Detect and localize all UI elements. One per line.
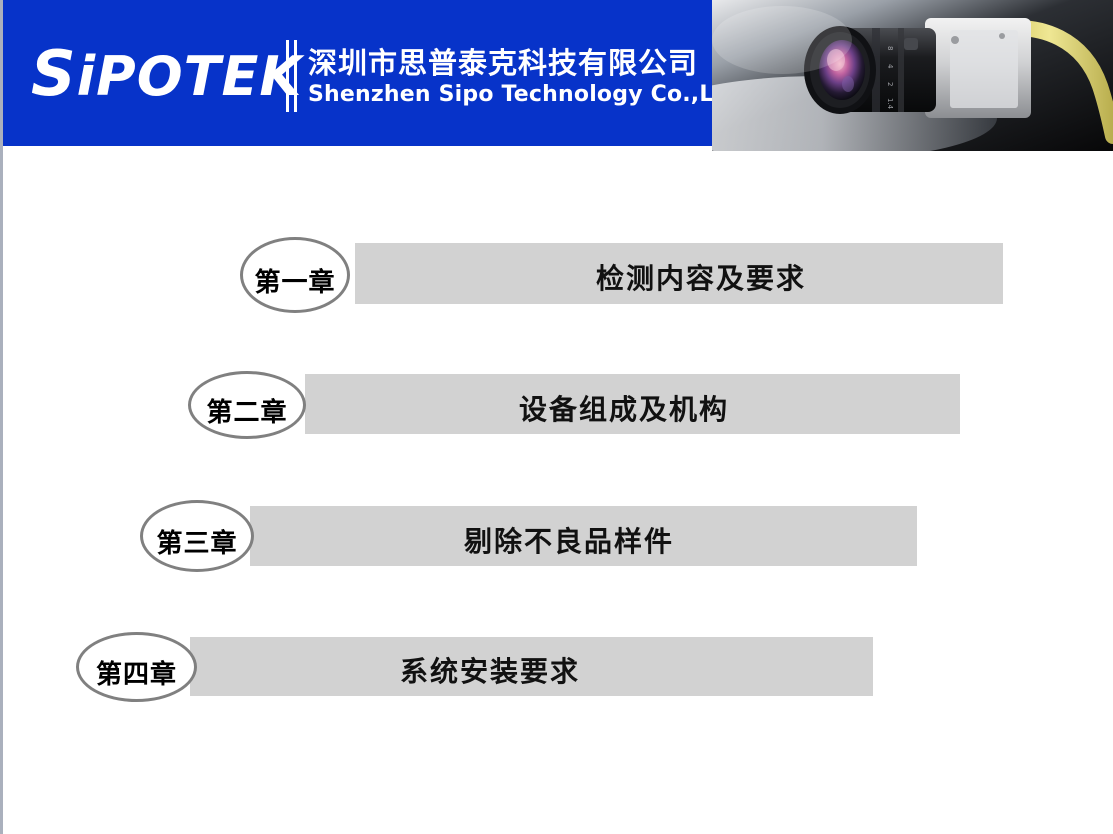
logo-divider-icon bbox=[286, 40, 300, 112]
company-name-chinese: 深圳市思普泰克科技有限公司 bbox=[308, 40, 698, 82]
logo-rest-glyphs: iPOTEK bbox=[77, 45, 303, 108]
svg-text:4: 4 bbox=[886, 64, 894, 69]
chapter-marker-label-1: 第一章 bbox=[243, 262, 347, 299]
logo-initial-glyph: S bbox=[31, 37, 77, 110]
svg-text:8: 8 bbox=[886, 46, 894, 50]
chapter-marker-3[interactable]: 第三章 bbox=[140, 500, 254, 572]
chapter-marker-1[interactable]: 第一章 bbox=[240, 237, 350, 313]
sipotek-logo: SiPOTEK bbox=[31, 38, 281, 110]
svg-text:1.4: 1.4 bbox=[886, 98, 894, 110]
header-banner: SiPOTEK 深圳市思普泰克科技有限公司 Shenzhen Sipo Tech… bbox=[3, 0, 712, 146]
presentation-slide: SiPOTEK 深圳市思普泰克科技有限公司 Shenzhen Sipo Tech… bbox=[0, 0, 1113, 834]
camera-photo: 8 4 2 1.4 bbox=[712, 0, 1113, 151]
chapter-marker-2[interactable]: 第二章 bbox=[188, 371, 306, 439]
chapter-marker-label-3: 第三章 bbox=[143, 523, 251, 560]
chapter-marker-4[interactable]: 第四章 bbox=[76, 632, 197, 702]
chapter-title-1: 检测内容及要求 bbox=[596, 257, 806, 297]
logo-wordmark: SiPOTEK bbox=[31, 38, 281, 113]
chapter-marker-label-2: 第二章 bbox=[191, 392, 303, 429]
chapter-title-2: 设备组成及机构 bbox=[519, 388, 729, 428]
chapter-marker-label-4: 第四章 bbox=[79, 654, 194, 691]
chapter-title-4: 系统安装要求 bbox=[400, 650, 580, 690]
svg-text:2: 2 bbox=[886, 82, 894, 86]
chapter-title-3: 剔除不良品样件 bbox=[464, 520, 674, 560]
company-name-english: Shenzhen Sipo Technology Co.,Ltd. bbox=[308, 82, 749, 107]
